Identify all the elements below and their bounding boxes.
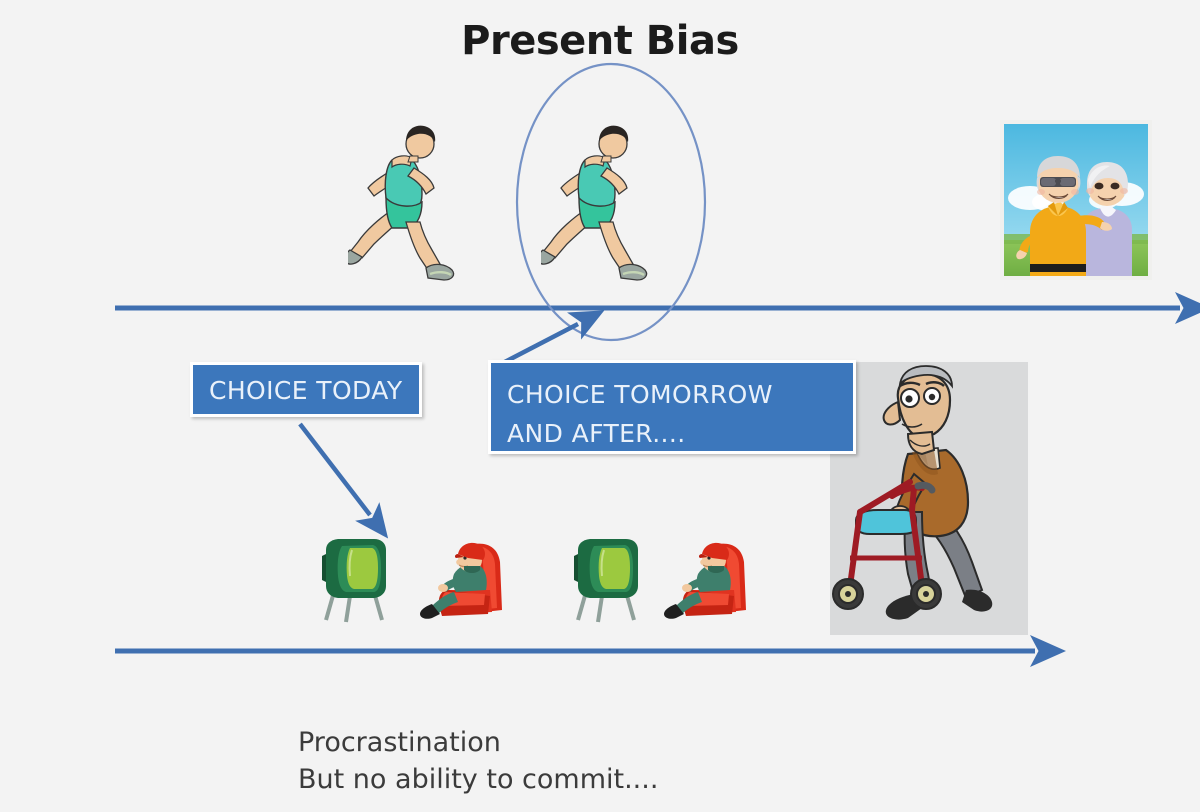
runner-today-clipart bbox=[348, 118, 468, 288]
elderly-man-walker-clipart bbox=[830, 362, 1028, 635]
runner-tomorrow-clipart bbox=[541, 118, 661, 288]
callout-tomorrow-line-2: AND AFTER.... bbox=[507, 414, 853, 453]
connector-today-to-tv bbox=[300, 424, 370, 515]
callout-today-line-1: CHOICE TODAY bbox=[209, 376, 419, 405]
television-clipart-1 bbox=[316, 534, 396, 626]
couch-potato-clipart-2 bbox=[656, 534, 766, 626]
television-clipart-2 bbox=[568, 534, 648, 626]
caption-line-2: But no ability to commit.... bbox=[298, 761, 658, 798]
callout-tomorrow-line-1: CHOICE TOMORROW bbox=[507, 375, 853, 414]
elderly-couple-photo bbox=[1000, 120, 1152, 280]
callout-choice-tomorrow[interactable]: CHOICE TOMORROW AND AFTER.... bbox=[488, 360, 856, 454]
couch-potato-clipart-1 bbox=[412, 534, 522, 626]
page-title: Present Bias bbox=[0, 18, 1200, 64]
caption-line-1: Procrastination bbox=[298, 724, 658, 761]
slide-caption: Procrastination But no ability to commit… bbox=[298, 724, 658, 798]
slide-canvas: Present Bias bbox=[0, 0, 1200, 812]
callout-choice-today[interactable]: CHOICE TODAY bbox=[190, 362, 422, 417]
